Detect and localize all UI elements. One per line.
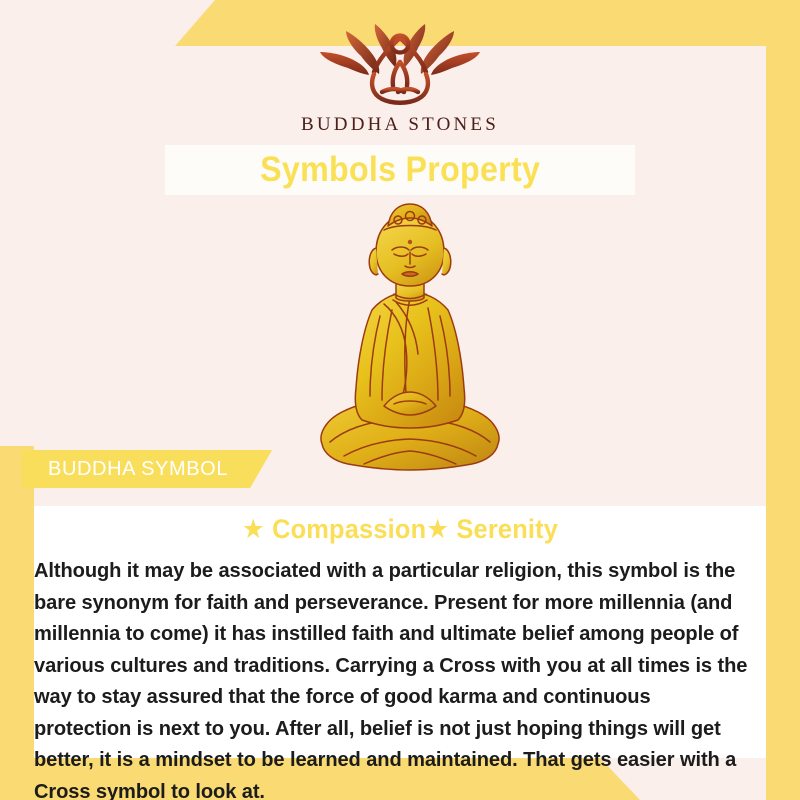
frame-left-band — [0, 446, 34, 800]
badge-label: BUDDHA SYMBOL — [48, 458, 228, 481]
page-title: Symbols Property — [260, 150, 540, 190]
seated-golden-buddha-statue-icon — [300, 198, 520, 493]
lotus-meditation-figure-icon — [312, 22, 488, 108]
brand-name: BUDDHA STONES — [301, 114, 499, 136]
status-badge: BUDDHA SYMBOL — [22, 450, 272, 488]
poster-canvas: BUDDHA STONES Symbols Property — [0, 0, 800, 800]
subtitle-attributes: ★ Compassion★ Serenity — [56, 514, 744, 545]
body-paragraph: Although it may be associated with a par… — [34, 556, 761, 800]
frame-right-band — [766, 46, 800, 800]
title-banner: Symbols Property — [165, 145, 635, 195]
brand-logo-block: BUDDHA STONES — [0, 22, 800, 136]
